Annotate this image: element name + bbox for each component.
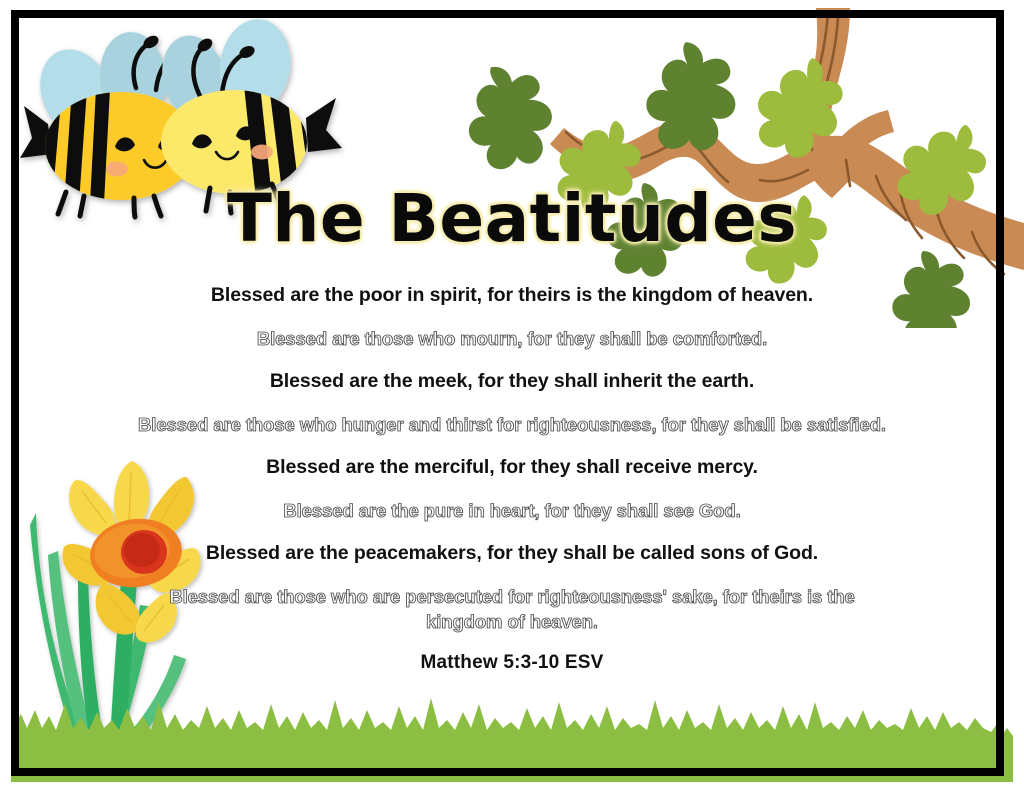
verse-line: Blessed are those who hunger and thirst … [0, 413, 1024, 437]
verse-line: Blessed are the merciful, for they shall… [0, 455, 1024, 481]
verse-line: Blessed are the peacemakers, for they sh… [0, 541, 1024, 567]
tree-branch-illustration [430, 8, 1024, 328]
beatitudes-poster: The Beatitudes Blessed are the poor in s… [0, 0, 1024, 791]
verse-line: Blessed are the poor in spirit, for thei… [0, 283, 1024, 309]
grass-illustration [11, 670, 1013, 782]
page-title: The Beatitudes [0, 180, 1024, 257]
verse-line: Blessed are the pure in heart, for they … [0, 499, 1024, 523]
verse-line: Blessed are those who mourn, for they sh… [0, 327, 1024, 351]
verses-list: Blessed are the poor in spirit, for thei… [0, 283, 1024, 674]
verse-line: Blessed are the meek, for they shall inh… [0, 369, 1024, 395]
scripture-attribution: Matthew 5:3-10 ESV [0, 652, 1024, 674]
verse-line: Blessed are those who are persecuted for… [167, 585, 857, 634]
